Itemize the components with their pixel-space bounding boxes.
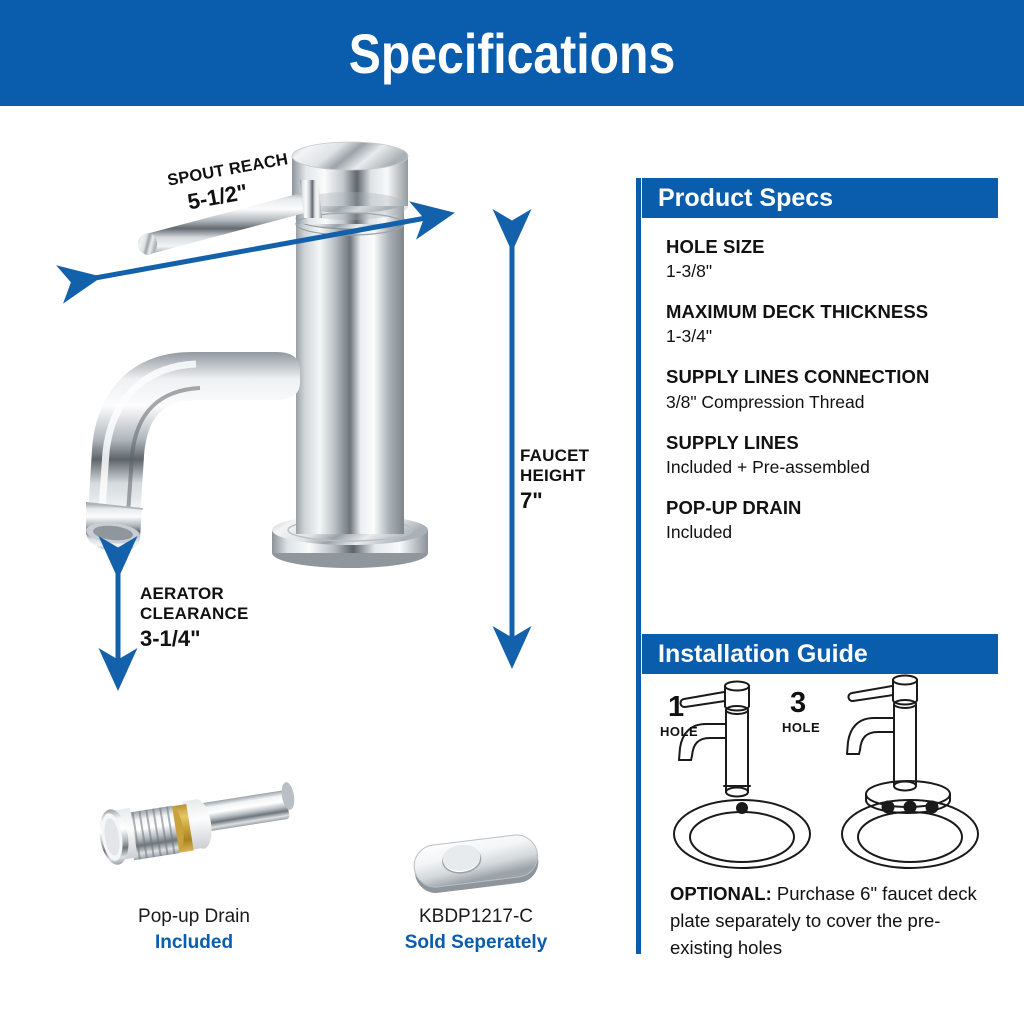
product-specs-list: HOLE SIZE 1-3/8" MAXIMUM DECK THICKNESS … xyxy=(666,236,996,562)
product-diagram: SPOUT REACH 5-1/2" FAUCET HEIGHT 7" AERA… xyxy=(0,106,636,1024)
spec-row: SUPPLY LINES CONNECTION 3/8" Compression… xyxy=(666,366,996,412)
spec-row: POP-UP DRAIN Included xyxy=(666,497,996,543)
spec-row: HOLE SIZE 1-3/8" xyxy=(666,236,996,282)
spec-label: MAXIMUM DECK THICKNESS xyxy=(666,301,996,323)
optional-label: OPTIONAL: xyxy=(670,883,772,904)
spec-label: SUPPLY LINES xyxy=(666,432,996,454)
spec-label: SUPPLY LINES CONNECTION xyxy=(666,366,996,388)
info-panel: Product Specs HOLE SIZE 1-3/8" MAXIMUM D… xyxy=(636,178,998,954)
spec-label: POP-UP DRAIN xyxy=(666,497,996,519)
installation-diagrams: 1 HOLE 3 HOLE xyxy=(660,674,998,874)
deck-plate-caption: KBDP1217-C Sold Seperately xyxy=(366,904,586,955)
pop-up-drain-caption: Pop-up Drain Included xyxy=(84,904,304,955)
specification-sheet: Specifications xyxy=(0,0,1024,1024)
deck-plate-status: Sold Seperately xyxy=(366,930,586,956)
spec-value: 1-3/8" xyxy=(666,261,996,282)
installation-guide-heading: Installation Guide xyxy=(642,634,998,674)
deck-plate-title: KBDP1217-C xyxy=(366,904,586,930)
svg-text:3: 3 xyxy=(790,687,806,719)
pop-up-drain-status: Included xyxy=(84,930,304,956)
svg-text:HOLE: HOLE xyxy=(782,720,820,735)
page-title: Specifications xyxy=(72,0,953,106)
spec-row: SUPPLY LINES Included + Pre-assembled xyxy=(666,432,996,478)
spec-label: HOLE SIZE xyxy=(666,236,996,258)
spec-value: 1-3/4" xyxy=(666,326,996,347)
svg-text:HOLE: HOLE xyxy=(660,724,698,739)
spec-value: 3/8" Compression Thread xyxy=(666,392,996,413)
spec-value: Included xyxy=(666,522,996,543)
deck-plate-icon xyxy=(0,106,636,1024)
svg-text:1: 1 xyxy=(668,691,684,723)
installation-optional-note: OPTIONAL: Purchase 6" faucet deck plate … xyxy=(670,880,990,962)
pop-up-drain-title: Pop-up Drain xyxy=(84,904,304,930)
panel-left-rule xyxy=(636,178,641,954)
spec-row: MAXIMUM DECK THICKNESS 1-3/4" xyxy=(666,301,996,347)
product-specs-heading: Product Specs xyxy=(642,178,998,218)
installation-guide-body: 1 HOLE 3 HOLE OPTIONAL: Purchase 6" fauc… xyxy=(642,674,998,954)
spec-value: Included + Pre-assembled xyxy=(666,457,996,478)
